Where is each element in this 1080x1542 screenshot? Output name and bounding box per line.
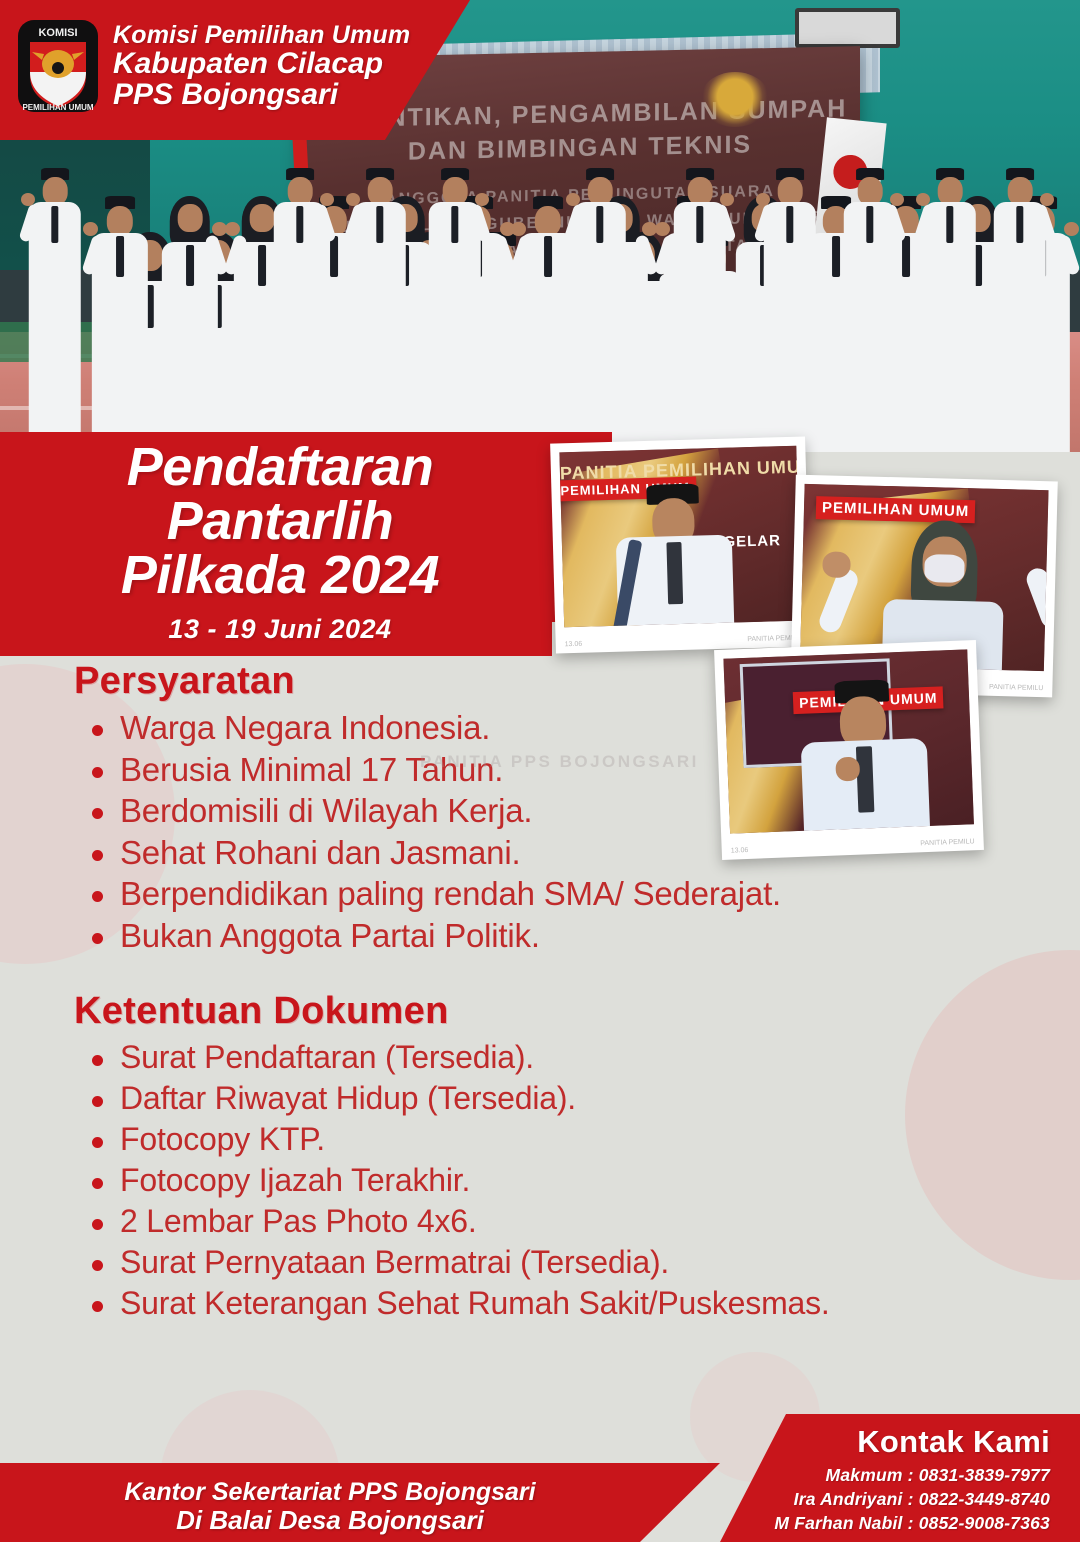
documents-heading: Ketentuan Dokumen	[74, 990, 1080, 1033]
footer-office-address: Kantor Sekertariat PPS Bojongsari Di Bal…	[0, 1478, 660, 1535]
crowd-person	[90, 196, 150, 452]
contact-line: M Farhan Nabil : 0852-9008-7363	[716, 1511, 1050, 1535]
crowd-person	[27, 168, 83, 452]
crowd-person	[672, 168, 728, 452]
contact-line: Makmum : 0831-3839-7977	[716, 1463, 1050, 1487]
contact-block: Kontak Kami Makmum : 0831-3839-7977Ira A…	[716, 1424, 1066, 1535]
poster-title-line1: Pendaftaran	[0, 440, 560, 494]
requirement-item: Bukan Anggota Partai Politik.	[92, 915, 1080, 957]
crowd-person	[352, 168, 408, 452]
contact-title: Kontak Kami	[716, 1424, 1050, 1460]
title-block: Pendaftaran Pantarlih Pilkada 2024 13 - …	[0, 440, 560, 645]
poster-date-range: 13 - 19 Juni 2024	[0, 614, 560, 645]
documents-list: Surat Pendaftaran (Tersedia).Daftar Riwa…	[0, 1037, 1080, 1324]
crowd-person	[762, 168, 818, 452]
photo-pantarlih-1: PEMILIHAN UMUM PANITIA PEMILIHAN UMUM GE…	[550, 436, 811, 653]
crowd-person	[572, 168, 628, 452]
crowd-person	[922, 168, 978, 452]
document-item: Daftar Riwayat Hidup (Tersedia).	[92, 1078, 1080, 1119]
poster-title-line3: Pilkada 2024	[0, 548, 560, 602]
stage-spotlight	[795, 8, 900, 48]
crowd-person	[427, 168, 483, 452]
svg-text:KOMISI: KOMISI	[38, 27, 77, 39]
document-item: Fotocopy Ijazah Terakhir.	[92, 1160, 1080, 1201]
photo-1-person	[612, 483, 736, 626]
brand-line-2: Kabupaten Cilacap	[113, 48, 410, 79]
contact-line: Ira Andriyani : 0822-3449-8740	[716, 1487, 1050, 1511]
requirement-item: Berpendidikan paling rendah SMA/ Sederaj…	[92, 873, 1080, 915]
svg-text:PEMILIHAN UMUM: PEMILIHAN UMUM	[22, 103, 93, 112]
crowd-person	[160, 196, 220, 452]
header-brand-text: Komisi Pemilihan Umum Kabupaten Cilacap …	[113, 22, 410, 110]
document-item: Surat Pendaftaran (Tersedia).	[92, 1037, 1080, 1078]
crowd-person	[842, 168, 898, 452]
document-item: Surat Pernyataan Bermatrai (Tersedia).	[92, 1242, 1080, 1283]
document-item: 2 Lembar Pas Photo 4x6.	[92, 1201, 1080, 1242]
contact-list: Makmum : 0831-3839-7977Ira Andriyani : 0…	[716, 1463, 1050, 1535]
garuda-emblem-icon	[700, 72, 770, 127]
office-line-2: Di Balai Desa Bojongsari	[0, 1506, 660, 1535]
photo-pantarlih-3: PEMILIHAN UMUM 13.06PANITIA PEMILU	[714, 640, 984, 860]
document-item: Surat Keterangan Sehat Rumah Sakit/Puske…	[92, 1283, 1080, 1324]
crowd-person	[992, 168, 1048, 452]
document-item: Fotocopy KTP.	[92, 1119, 1080, 1160]
poster-title-line2: Pantarlih	[0, 494, 560, 548]
brand-line-3: PPS Bojongsari	[113, 79, 410, 110]
crowd-person	[272, 168, 328, 452]
poster-root: PELANTIKAN, PENGAMBILAN SUMPAH DAN BIMBI…	[0, 0, 1080, 1542]
kpu-garuda-logo-icon: KOMISI PEMILIHAN UMUM	[14, 16, 102, 116]
office-line-1: Kantor Sekertariat PPS Bojongsari	[0, 1478, 660, 1506]
photo-3-person	[796, 678, 932, 831]
photo-1-frame-caption: 13.06PANITIA PEMILU	[565, 635, 802, 649]
brand-line-1: Komisi Pemilihan Umum	[113, 22, 410, 48]
